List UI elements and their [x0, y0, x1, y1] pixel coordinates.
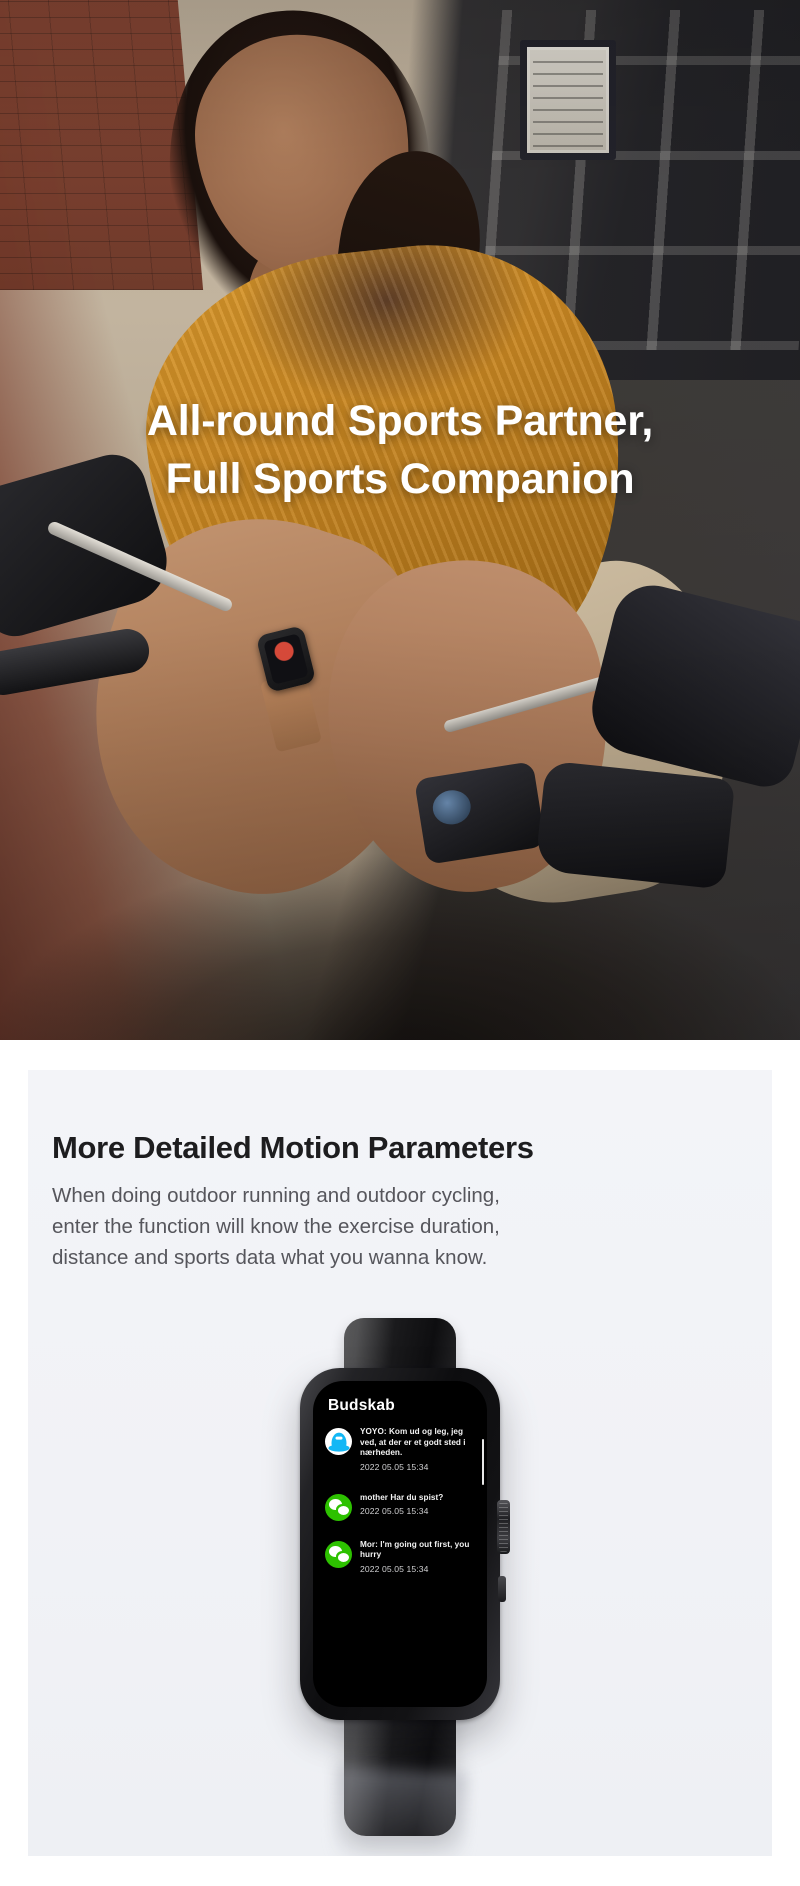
list-item[interactable]: Mor: I'm going out first, you hurry 2022… — [325, 1540, 479, 1576]
message-list: YOYO: Kom ud og leg, jeg ved, at der er … — [325, 1427, 479, 1701]
hero-headline-line-1: All-round Sports Partner, — [28, 392, 772, 450]
message-timestamp: 2022 05.05 15:34 — [360, 1563, 471, 1576]
watch-screen: Budskab YOYO: Kom ud og leg, jeg ved, at… — [313, 1381, 487, 1707]
feature-section: More Detailed Motion Parameters When doi… — [0, 1040, 800, 1886]
smartwatch-product-image: Budskab YOYO: Kom ud og leg, jeg ved, at… — [28, 1318, 772, 1838]
watch-side-button-icon[interactable] — [498, 1576, 506, 1602]
product-landing-page: All-round Sports Partner, Full Sports Co… — [0, 0, 800, 1886]
feature-title: More Detailed Motion Parameters — [52, 1130, 534, 1166]
wechat-bubbles-glyph — [329, 1499, 349, 1515]
cyclist-shoe — [535, 760, 735, 889]
hero-headline-line-2: Full Sports Companion — [28, 450, 772, 508]
feature-description: When doing outdoor running and outdoor c… — [52, 1180, 702, 1273]
message-timestamp: 2022 05.05 15:34 — [360, 1505, 471, 1518]
message-text-block: mother Har du spist? 2022 05.05 15:34 — [360, 1493, 471, 1519]
hero-headline: All-round Sports Partner, Full Sports Co… — [0, 392, 800, 508]
qq-icon — [325, 1428, 352, 1455]
watch-case: Budskab YOYO: Kom ud og leg, jeg ved, at… — [300, 1368, 500, 1720]
message-body: YOYO: Kom ud og leg, jeg ved, at der er … — [360, 1427, 471, 1459]
screen-title: Budskab — [328, 1397, 395, 1415]
watch-drop-shadow — [332, 1767, 468, 1856]
screen-scrollbar[interactable] — [482, 1439, 485, 1485]
message-timestamp: 2022 05.05 15:34 — [360, 1461, 471, 1474]
wechat-icon — [325, 1541, 352, 1568]
message-body: Mor: I'm going out first, you hurry — [360, 1540, 471, 1561]
list-item[interactable]: YOYO: Kom ud og leg, jeg ved, at der er … — [325, 1427, 479, 1474]
hero-banner: All-round Sports Partner, Full Sports Co… — [0, 0, 800, 1040]
wechat-bubbles-glyph — [329, 1546, 349, 1562]
list-item[interactable]: mother Har du spist? 2022 05.05 15:34 — [325, 1493, 479, 1521]
wechat-icon — [325, 1494, 352, 1521]
feature-description-line-2: enter the function will know the exercis… — [52, 1211, 702, 1242]
message-body: mother Har du spist? — [360, 1493, 471, 1504]
message-text-block: YOYO: Kom ud og leg, jeg ved, at der er … — [360, 1427, 471, 1474]
qq-penguin-glyph — [331, 1432, 346, 1450]
feature-description-line-3: distance and sports data what you wanna … — [52, 1242, 702, 1273]
feature-card: More Detailed Motion Parameters When doi… — [28, 1070, 772, 1856]
message-text-block: Mor: I'm going out first, you hurry 2022… — [360, 1540, 471, 1576]
feature-description-line-1: When doing outdoor running and outdoor c… — [52, 1180, 702, 1211]
watch-crown-icon[interactable] — [497, 1500, 510, 1554]
